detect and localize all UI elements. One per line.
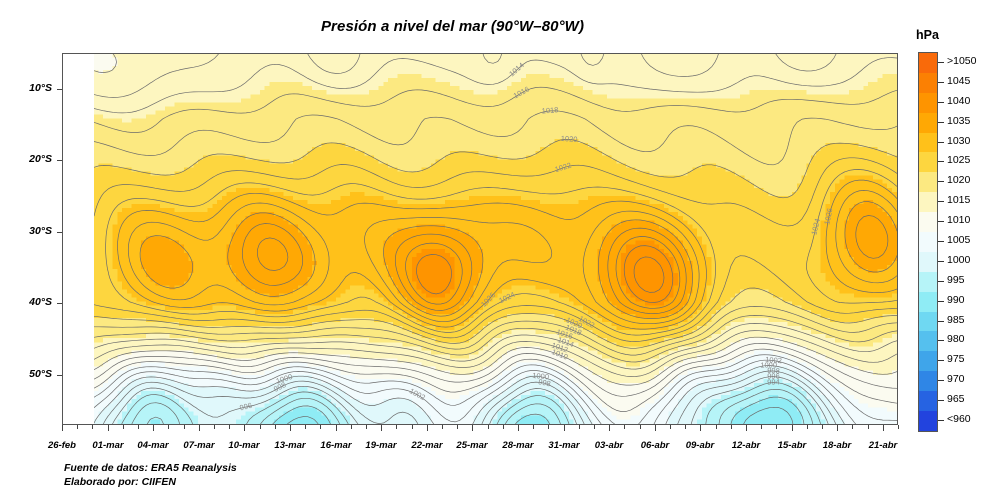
colorbar-swatch [919, 53, 937, 73]
colorbar-tick-label: 965 [947, 393, 965, 405]
x-axis-tick [412, 425, 413, 429]
x-axis-tick [518, 425, 519, 431]
contour-label: 1020 [561, 134, 578, 144]
x-axis-tick [609, 425, 610, 431]
colorbar-tick-label: >1050 [947, 55, 977, 67]
colorbar-tick-label: 1000 [947, 254, 970, 266]
x-axis-tick [761, 425, 762, 429]
colorbar-tick [938, 241, 944, 242]
colorbar-swatch [919, 172, 937, 192]
x-axis-tick [594, 425, 595, 429]
x-axis-tick [655, 425, 656, 431]
colorbar-tick-label: 990 [947, 294, 965, 306]
x-axis-tick [472, 425, 473, 431]
colorbar-tick-label: <960 [947, 413, 971, 425]
x-axis-tick [807, 425, 808, 429]
x-axis-tick [731, 425, 732, 429]
x-axis-tick [533, 425, 534, 429]
x-axis-tick [685, 425, 686, 429]
colorbar-tick-label: 975 [947, 353, 965, 365]
x-axis-tick [260, 425, 261, 429]
colorbar-tick-label: 1015 [947, 194, 970, 206]
colorbar-tick [938, 62, 944, 63]
x-axis-tick [77, 425, 78, 429]
x-axis-tick [868, 425, 869, 429]
colorbar-tick [938, 102, 944, 103]
x-axis-tick [199, 425, 200, 431]
y-axis-tick [57, 375, 62, 376]
x-axis-tick [275, 425, 276, 429]
y-axis-tick-label: 30°S [8, 225, 52, 237]
colorbar-tick [938, 261, 944, 262]
colorbar-tick [938, 122, 944, 123]
colorbar-swatch [919, 391, 937, 411]
x-axis-tick [62, 425, 63, 431]
no-data-region [63, 54, 94, 424]
colorbar-tick-label: 1005 [947, 234, 970, 246]
colorbar-swatch [919, 252, 937, 272]
x-axis-tick [108, 425, 109, 431]
x-axis-tick [792, 425, 793, 431]
x-axis-tick [396, 425, 397, 429]
colorbar-swatch [919, 212, 937, 232]
x-axis-tick [852, 425, 853, 429]
colorbar-tick [938, 400, 944, 401]
colorbar-tick-label: 1030 [947, 135, 970, 147]
contour-label: 1018 [541, 105, 558, 115]
colorbar-tick-label: 970 [947, 373, 965, 385]
x-axis-tick [427, 425, 428, 431]
x-axis-tick [214, 425, 215, 429]
x-axis-tick [822, 425, 823, 429]
x-axis-tick [138, 425, 139, 429]
x-axis-tick [548, 425, 549, 429]
y-axis-tick [57, 303, 62, 304]
colorbar-tick [938, 340, 944, 341]
colorbar-swatch [919, 152, 937, 172]
x-axis-tick [837, 425, 838, 431]
x-axis-tick [883, 425, 884, 431]
x-axis-tick [366, 425, 367, 429]
sea-level-pressure-chart: Presión a nivel del mar (90°W–80°W) 9949… [0, 0, 1000, 500]
x-axis-tick [716, 425, 717, 429]
x-axis-tick [153, 425, 154, 431]
colorbar-swatch [919, 371, 937, 391]
y-axis-tick [57, 232, 62, 233]
colorbar [918, 52, 938, 432]
x-axis-tick [123, 425, 124, 429]
x-axis-tick [381, 425, 382, 431]
x-axis-tick [579, 425, 580, 429]
colorbar-swatch [919, 331, 937, 351]
colorbar-swatch [919, 351, 937, 371]
colorbar-tick-label: 1040 [947, 95, 970, 107]
x-axis-tick [564, 425, 565, 431]
x-axis-tick [351, 425, 352, 429]
colorbar-unit-label: hPa [916, 28, 939, 42]
colorbar-tick-label: 985 [947, 314, 965, 326]
y-axis-tick-label: 40°S [8, 296, 52, 308]
footer-author: Elaborado por: CIIFEN [64, 475, 237, 489]
x-axis-tick [488, 425, 489, 429]
page-title: Presión a nivel del mar (90°W–80°W) [0, 18, 905, 35]
colorbar-tick-label: 995 [947, 274, 965, 286]
x-axis-tick [290, 425, 291, 431]
x-axis-tick [670, 425, 671, 429]
colorbar-tick [938, 321, 944, 322]
colorbar-swatch [919, 192, 937, 212]
colorbar-tick [938, 161, 944, 162]
colorbar-swatch [919, 113, 937, 133]
x-axis-tick [700, 425, 701, 431]
colorbar-tick [938, 221, 944, 222]
x-axis-tick [320, 425, 321, 429]
colorbar-swatch [919, 292, 937, 312]
colorbar-tick [938, 360, 944, 361]
x-axis-tick [457, 425, 458, 429]
colorbar-swatch [919, 133, 937, 153]
colorbar-tick [938, 420, 944, 421]
colorbar-tick-label: 980 [947, 333, 965, 345]
x-axis-tick [898, 425, 899, 429]
x-axis-tick [776, 425, 777, 429]
colorbar-tick [938, 142, 944, 143]
footer-source: Fuente de datos: ERA5 Reanalysis [64, 461, 237, 475]
colorbar-tick-label: 1010 [947, 214, 970, 226]
x-axis-tick [503, 425, 504, 429]
colorbar-tick-label: 1020 [947, 174, 970, 186]
colorbar-tick [938, 82, 944, 83]
y-axis-tick-label: 50°S [8, 368, 52, 380]
y-axis-tick-label: 20°S [8, 153, 52, 165]
x-axis-tick [184, 425, 185, 429]
colorbar-tick [938, 380, 944, 381]
colorbar-swatch [919, 232, 937, 252]
colorbar-tick [938, 281, 944, 282]
x-axis-tick [624, 425, 625, 429]
colorbar-tick [938, 301, 944, 302]
colorbar-tick-label: 1045 [947, 75, 970, 87]
colorbar-swatch [919, 312, 937, 332]
colorbar-swatch [919, 93, 937, 113]
x-axis-tick [244, 425, 245, 431]
x-axis-tick-label: 21-abr [855, 440, 911, 451]
colorbar-tick [938, 201, 944, 202]
x-axis-tick [305, 425, 306, 429]
y-axis-tick [57, 89, 62, 90]
y-axis-tick-label: 10°S [8, 82, 52, 94]
colorbar-tick-label: 1025 [947, 154, 970, 166]
x-axis-tick [442, 425, 443, 429]
contour-plot-svg: 9949969969989989981000100010001002100210… [63, 54, 897, 424]
colorbar-tick-label: 1035 [947, 115, 970, 127]
colorbar-swatch [919, 411, 937, 431]
contour-label: 1000 [532, 371, 549, 381]
x-axis-tick [640, 425, 641, 429]
colorbar-swatch [919, 272, 937, 292]
x-axis-tick [92, 425, 93, 429]
x-axis-tick [168, 425, 169, 429]
colorbar-tick [938, 181, 944, 182]
contour-label: 1002 [765, 355, 782, 365]
x-axis-tick [336, 425, 337, 431]
colorbar-swatch [919, 73, 937, 93]
x-axis-tick [746, 425, 747, 431]
x-axis-tick [229, 425, 230, 429]
y-axis-tick [57, 160, 62, 161]
footer-credits: Fuente de datos: ERA5 Reanalysis Elabora… [64, 461, 237, 489]
plot-area: 9949969969989989981000100010001002100210… [62, 53, 898, 425]
